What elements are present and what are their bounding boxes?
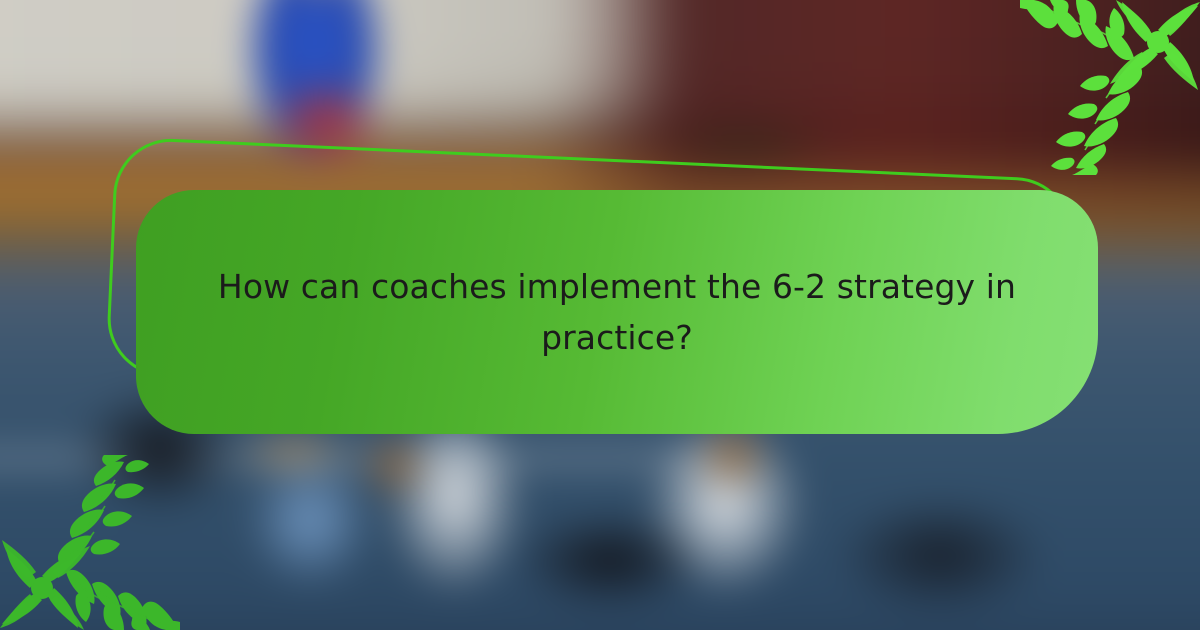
background-figure-blue-jersey	[250, 455, 370, 585]
background-dark-bottom-2	[840, 500, 1040, 610]
background-dark-bottom-1	[520, 515, 700, 605]
floral-corner-ornament-bottom-left	[0, 455, 180, 630]
question-text: How can coaches implement the 6-2 strate…	[207, 261, 1027, 363]
floral-corner-ornament-top-right	[1020, 0, 1200, 175]
background-figure-skin-1	[360, 430, 430, 500]
social-card-canvas: How can coaches implement the 6-2 strate…	[0, 0, 1200, 630]
question-card: How can coaches implement the 6-2 strate…	[136, 190, 1098, 434]
